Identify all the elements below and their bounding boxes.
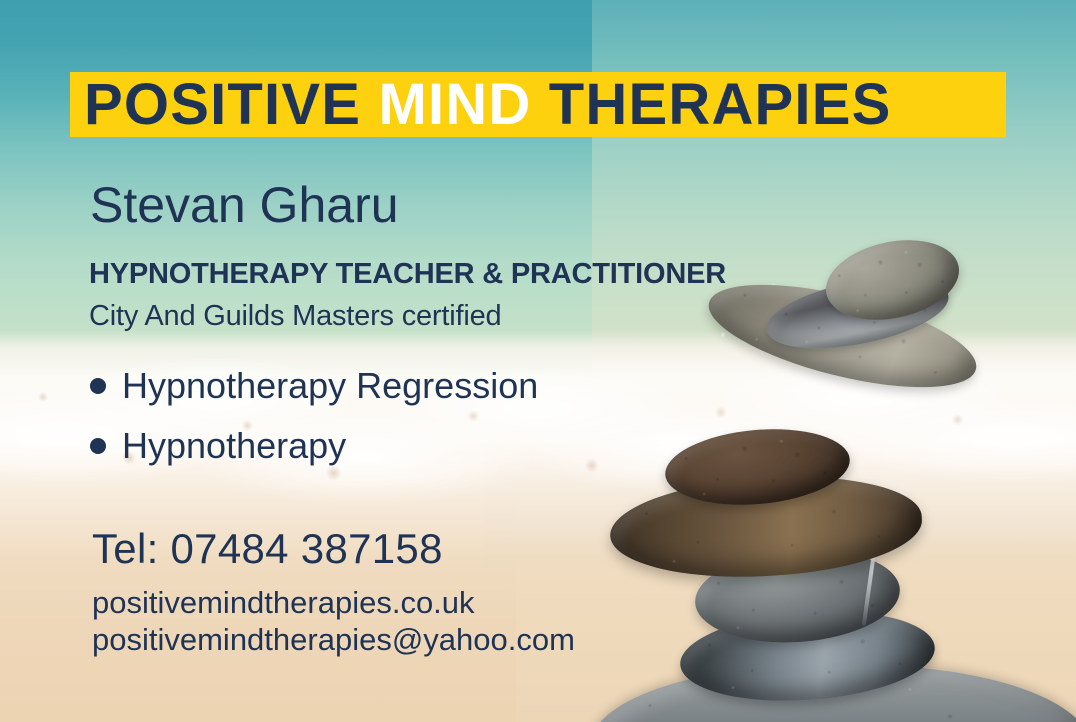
website-url: positivemindtherapies.co.uk bbox=[92, 585, 475, 621]
services-list: Hypnotherapy Regression Hypnotherapy bbox=[90, 368, 538, 488]
professional-role: HYPNOTHERAPY TEACHER & PRACTITIONER bbox=[89, 258, 726, 291]
title-part-2: THERAPIES bbox=[531, 72, 891, 137]
page-title: POSITIVE MIND THERAPIES bbox=[84, 76, 892, 134]
email-address: positivemindtherapies@yahoo.com bbox=[92, 622, 575, 658]
person-name: Stevan Gharu bbox=[90, 176, 399, 234]
business-card: POSITIVE MIND THERAPIES Stevan Gharu HYP… bbox=[0, 0, 1076, 722]
title-banner: POSITIVE MIND THERAPIES bbox=[70, 72, 1006, 137]
list-item: Hypnotherapy bbox=[90, 428, 538, 464]
bullet-icon bbox=[90, 438, 106, 454]
service-label: Hypnotherapy Regression bbox=[122, 368, 538, 404]
bullet-icon bbox=[90, 378, 106, 394]
list-item: Hypnotherapy Regression bbox=[90, 368, 538, 404]
telephone-number: Tel: 07484 387158 bbox=[92, 525, 443, 573]
certification-line: City And Guilds Masters certified bbox=[89, 300, 501, 333]
service-label: Hypnotherapy bbox=[122, 428, 346, 464]
card-content: POSITIVE MIND THERAPIES Stevan Gharu HYP… bbox=[0, 0, 1076, 722]
title-highlight-mind: MIND bbox=[378, 72, 531, 137]
title-part-1: POSITIVE bbox=[84, 72, 378, 137]
